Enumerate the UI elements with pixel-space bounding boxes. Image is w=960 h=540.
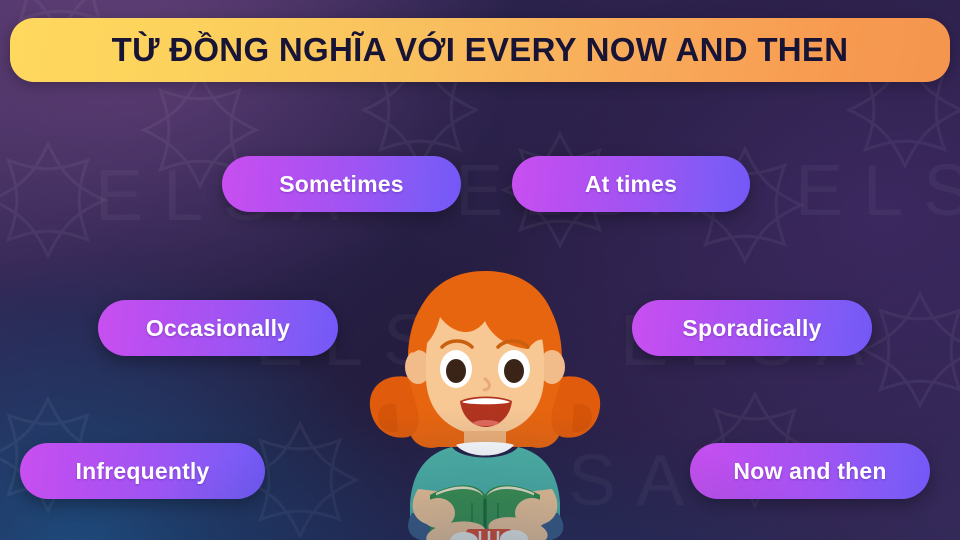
pill-label: At times bbox=[585, 171, 677, 198]
pill-sporadically[interactable]: Sporadically bbox=[632, 300, 872, 356]
pill-label: Sometimes bbox=[279, 171, 404, 198]
pill-occasionally[interactable]: Occasionally bbox=[98, 300, 338, 356]
slide-canvas: ELSA ELSA ELSA ELSA ELSA ELSA TỪ ĐỒNG NG… bbox=[0, 0, 960, 540]
watermark-elsa: ELSA bbox=[795, 150, 960, 232]
pill-label: Infrequently bbox=[75, 458, 209, 485]
girl-reading-illustration bbox=[360, 255, 610, 540]
title-banner: TỪ ĐỒNG NGHĨA VỚI EVERY NOW AND THEN bbox=[10, 18, 950, 82]
pill-now-and-then[interactable]: Now and then bbox=[690, 443, 930, 499]
pill-at-times[interactable]: At times bbox=[512, 156, 750, 212]
page-title: TỪ ĐỒNG NGHĨA VỚI EVERY NOW AND THEN bbox=[112, 31, 849, 69]
pill-sometimes[interactable]: Sometimes bbox=[222, 156, 461, 212]
pill-label: Now and then bbox=[733, 458, 886, 485]
pill-label: Sporadically bbox=[682, 315, 821, 342]
pill-label: Occasionally bbox=[146, 315, 290, 342]
pill-infrequently[interactable]: Infrequently bbox=[20, 443, 265, 499]
